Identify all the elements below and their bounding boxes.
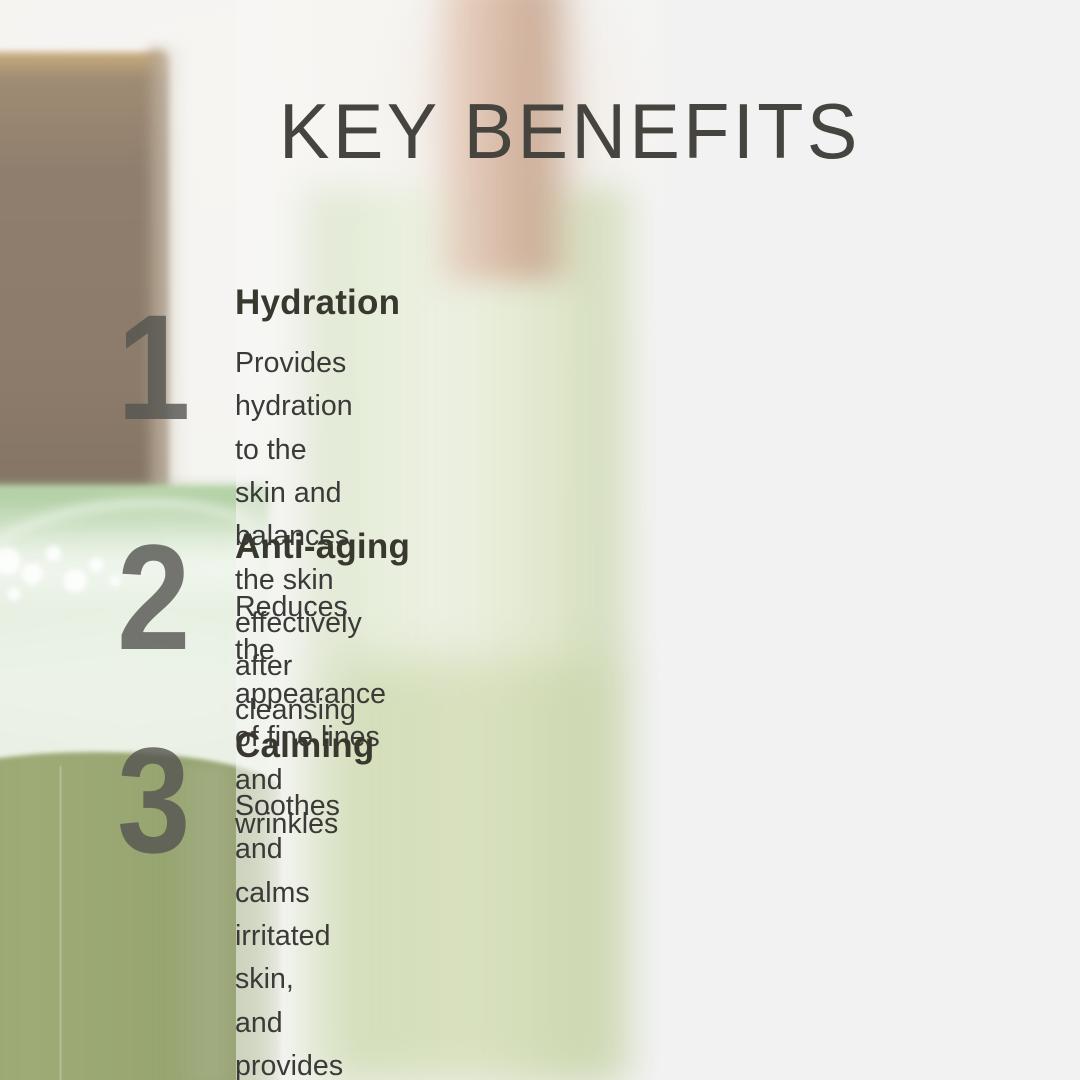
benefit-number-1: 1 <box>117 292 189 442</box>
content-layer: KEY BENEFITS 1 Hydration Provides hydrat… <box>0 0 1080 1080</box>
benefit-number-2: 2 <box>117 522 189 672</box>
key-benefits-graphic: KEY BENEFITS 1 Hydration Provides hydrat… <box>0 0 1080 1080</box>
page-title: KEY BENEFITS <box>279 86 861 177</box>
benefit-heading-3: Calming <box>235 726 374 766</box>
benefit-number-3: 3 <box>117 725 189 875</box>
benefit-heading-1: Hydration <box>235 283 400 323</box>
benefit-heading-2: Anti-aging <box>235 527 410 567</box>
benefit-body-3: Soothes and calms irritated skin, and pr… <box>235 785 343 1080</box>
